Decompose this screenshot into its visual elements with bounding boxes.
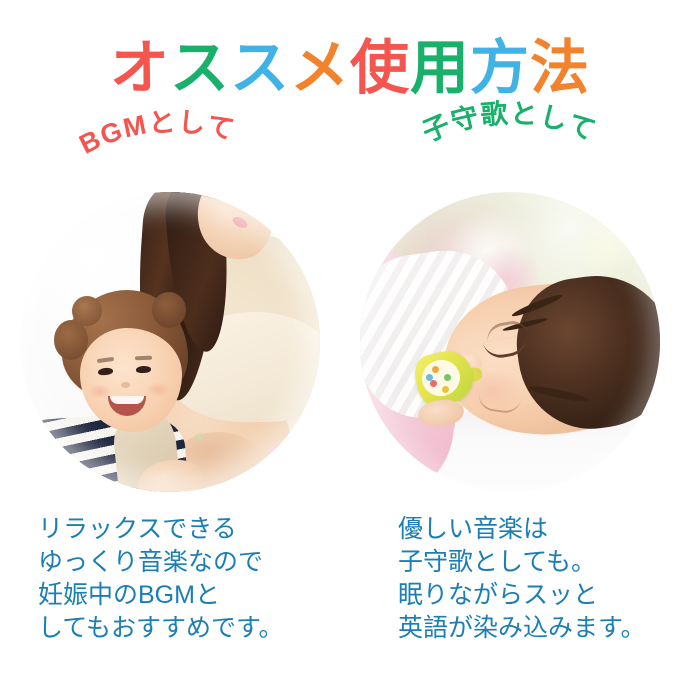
photo-lullaby [360, 192, 660, 492]
panel-label-bgm-text: BGMとして [75, 107, 239, 160]
page-title: オススメ使用方法 [0, 33, 700, 103]
photo-lullaby-illustration [360, 192, 660, 492]
caption-lullaby: 優しい音楽は 子守歌としても。 眠りながらスッと 英語が染み込みます。 [398, 513, 646, 645]
caption-bgm-line-3: 妊娠中のBGMと [38, 579, 284, 612]
promo-graphic: オススメ使用方法 BGMとして 子守歌として [0, 0, 700, 700]
caption-lullaby-line-2: 子守歌としても。 [398, 546, 646, 579]
svg-text:子守歌として: 子守歌として [418, 98, 601, 147]
panel-label-lullaby-text: 子守歌として [418, 98, 601, 147]
caption-lullaby-line-3: 眠りながらスッと [398, 579, 646, 612]
caption-bgm-line-4: してもおすすめです。 [38, 612, 284, 645]
title-char-1: オ [110, 33, 170, 103]
title-char-5: 使 [350, 33, 410, 103]
caption-lullaby-line-1: 優しい音楽は [398, 513, 646, 546]
svg-text:BGMとして: BGMとして [75, 107, 239, 160]
caption-bgm-line-1: リラックスできる [38, 513, 284, 546]
caption-bgm-line-2: ゆっくり音楽なので [38, 546, 284, 579]
title-char-3: ス [230, 33, 290, 103]
photo-vignette [360, 192, 660, 492]
photo-bgm [20, 192, 320, 492]
title-char-4: メ [290, 33, 350, 103]
caption-bgm: リラックスできる ゆっくり音楽なので 妊娠中のBGMと してもおすすめです。 [38, 513, 284, 645]
title-char-2: ス [170, 33, 230, 103]
photo-vignette [20, 192, 320, 492]
caption-lullaby-line-4: 英語が染み込みます。 [398, 612, 646, 645]
photo-bgm-illustration [20, 192, 320, 492]
title-char-6: 用 [410, 33, 470, 103]
title-char-8: 法 [530, 33, 590, 103]
title-char-7: 方 [470, 33, 530, 103]
